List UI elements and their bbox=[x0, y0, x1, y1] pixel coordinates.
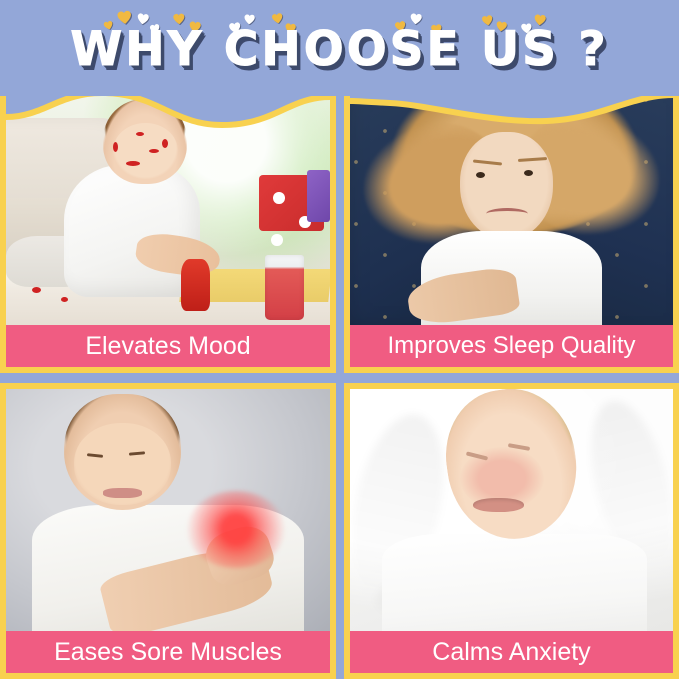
benefits-grid: Elevates Mood bbox=[0, 0, 679, 679]
poster-header: WHY CHOOSE US ? bbox=[0, 0, 679, 96]
scene-boy-sore-shoulder bbox=[6, 389, 330, 631]
benefit-image-calms-anxiety bbox=[350, 389, 673, 631]
benefit-card-elevates-mood[interactable]: Elevates Mood bbox=[0, 88, 336, 373]
benefit-image-elevates-mood bbox=[6, 90, 330, 325]
benefit-label-calms-anxiety: Calms Anxiety bbox=[350, 631, 673, 673]
benefit-image-improves-sleep-quality bbox=[350, 90, 673, 325]
benefit-label-eases-sore-muscles: Eases Sore Muscles bbox=[6, 631, 330, 673]
why-choose-us-poster: Elevates Mood bbox=[0, 0, 679, 679]
benefit-card-calms-anxiety[interactable]: Calms Anxiety bbox=[344, 383, 679, 679]
page-title-wrap: WHY CHOOSE US ? bbox=[0, 22, 679, 78]
benefit-image-eases-sore-muscles bbox=[6, 389, 330, 631]
page-title: WHY CHOOSE US ? bbox=[70, 22, 608, 78]
wave-top-edge bbox=[6, 90, 330, 136]
benefit-card-eases-sore-muscles[interactable]: Eases Sore Muscles bbox=[0, 383, 336, 679]
wave-top-edge bbox=[350, 90, 673, 136]
benefit-label-improves-sleep-quality: Improves Sleep Quality bbox=[350, 325, 673, 367]
scene-crying-toddler bbox=[350, 389, 673, 631]
benefit-label-elevates-mood: Elevates Mood bbox=[6, 325, 330, 367]
benefit-card-improves-sleep-quality[interactable]: Improves Sleep Quality bbox=[344, 88, 679, 373]
